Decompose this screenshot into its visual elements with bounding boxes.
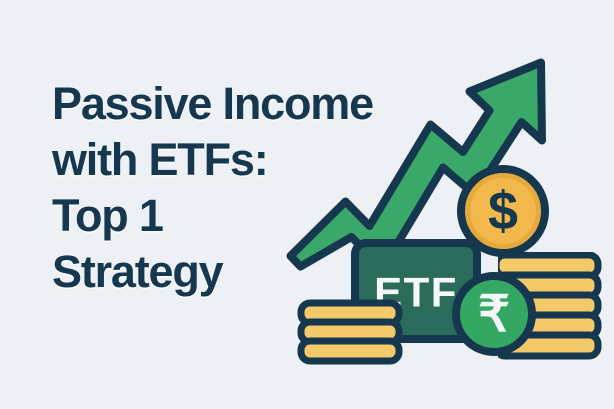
headline-line-3: Top 1 [52, 188, 342, 244]
coin-stack-icon-left [301, 303, 399, 361]
rupee-coin-icon: ₹ [456, 276, 532, 352]
dollar-coin-icon: $ [461, 169, 545, 253]
headline-line-1: Passive Income [52, 76, 342, 132]
graphic-canvas: Passive Income with ETFs: Top 1 Strategy… [0, 0, 614, 409]
headline-line-2: with ETFs: [52, 132, 342, 188]
dollar-symbol: $ [488, 181, 518, 241]
headline-line-4: Strategy [52, 244, 342, 300]
rupee-symbol: ₹ [478, 286, 510, 342]
headline: Passive Income with ETFs: Top 1 Strategy [52, 76, 342, 300]
